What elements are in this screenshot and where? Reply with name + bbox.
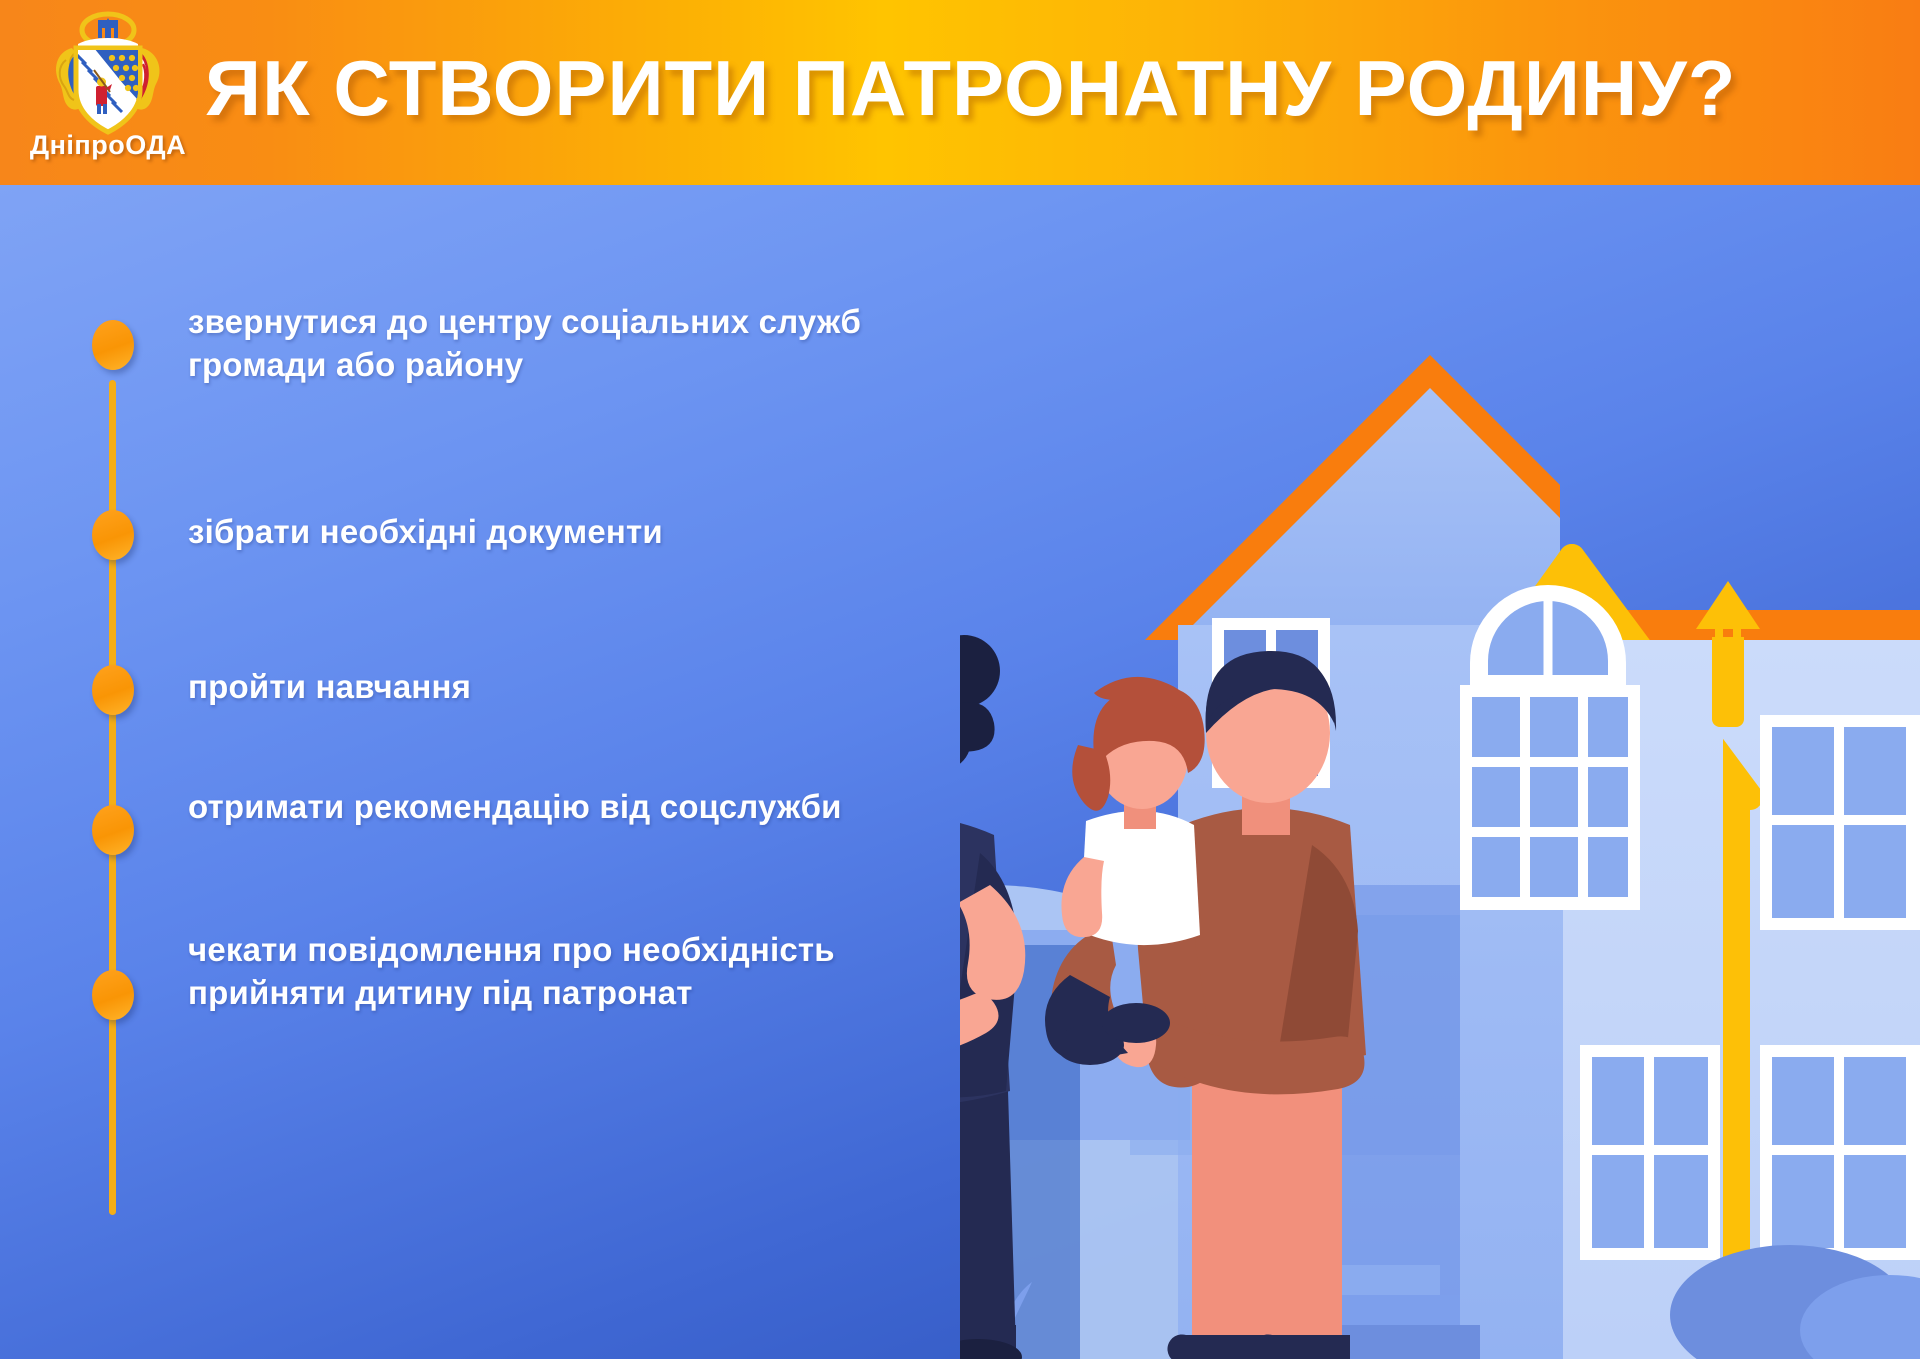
infographic-poster: ДніпроОДА ЯК СТВОРИТИ ПАТРОНАТНУ РОДИНУ? <box>0 0 1920 1359</box>
steps-list: звернутися до центру соціальних служб гр… <box>80 320 940 1250</box>
window-far-right-upper <box>1760 715 1920 930</box>
step-bullet-5 <box>92 970 134 1020</box>
step-label-4: отримати рекомендацію від соцслужби <box>188 785 908 828</box>
window-mid-right-lower <box>1580 1045 1720 1260</box>
coat-of-arms-icon <box>42 8 174 140</box>
step-label-5: чекати повідомлення про необхідність при… <box>188 928 908 1014</box>
step-label-2: зібрати необхідні документи <box>188 510 908 553</box>
dniprooda-logo: ДніпроОДА <box>28 8 188 180</box>
step-bullet-2 <box>92 510 134 560</box>
header-bar: ДніпроОДА ЯК СТВОРИТИ ПАТРОНАТНУ РОДИНУ? <box>0 0 1920 185</box>
step-bullet-3 <box>92 665 134 715</box>
step-bullet-1 <box>92 320 134 370</box>
illustration-svg <box>960 185 1920 1359</box>
window-right-gable-large <box>1460 685 1640 910</box>
step-label-1: звернутися до центру соціальних служб гр… <box>188 300 908 386</box>
family-house-illustration <box>960 185 1920 1359</box>
logo-wordmark: ДніпроОДА <box>28 130 188 161</box>
page-title: ЯК СТВОРИТИ ПАТРОНАТНУ РОДИНУ? <box>205 44 1905 132</box>
timeline-rail <box>109 380 116 1215</box>
step-bullet-4 <box>92 805 134 855</box>
step-label-3: пройти навчання <box>188 665 908 708</box>
window-far-right-lower <box>1760 1045 1920 1260</box>
